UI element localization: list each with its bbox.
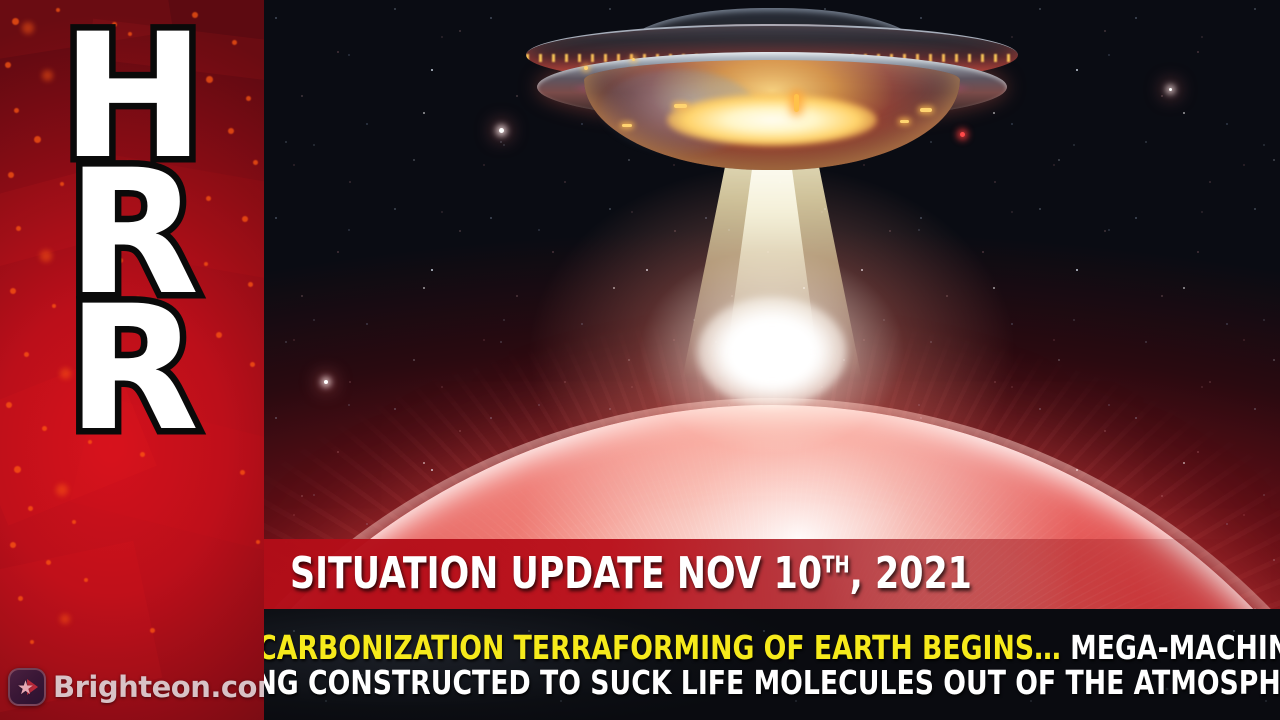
episode-title-ordinal: TH: [822, 552, 850, 578]
hrr-logo-stack: H R R: [0, 30, 264, 436]
bright-star-icon: [1169, 88, 1172, 91]
subtitle-line-1: DECARBONIZATION TERRAFORMING OF EARTH BE…: [264, 631, 1280, 666]
subtitle-line-2: BEING CONSTRUCTED TO SUCK LIFE MOLECULES…: [264, 666, 1280, 701]
brighteon-play-icon: ★: [8, 668, 46, 706]
brand-sidebar: H R R ★ Brighteon.com: [0, 0, 264, 720]
subtitle-strip: DECARBONIZATION TERRAFORMING OF EARTH BE…: [264, 609, 1280, 720]
subtitle-highlight: DECARBONIZATION TERRAFORMING OF EARTH BE…: [264, 628, 1061, 667]
episode-title-suffix: , 2021: [850, 548, 972, 599]
episode-title-prefix: SITUATION UPDATE NOV 10: [290, 548, 822, 599]
hrr-letter-r-2: R: [67, 302, 197, 436]
flying-saucer: [522, 8, 1022, 178]
star-icon: ★: [17, 679, 34, 698]
saucer-running-lights: [522, 8, 1022, 178]
thumbnail-canvas: H R R ★ Brighteon.com SITUATION UPDATE N…: [0, 0, 1280, 720]
title-banner: SITUATION UPDATE NOV 10TH, 2021: [264, 539, 1280, 609]
subtitle-plain: MEGA-MACHINES: [1070, 628, 1280, 667]
brighteon-logo[interactable]: ★ Brighteon.com: [8, 668, 264, 706]
episode-title: SITUATION UPDATE NOV 10TH, 2021: [290, 552, 972, 596]
bright-star-icon: [499, 128, 504, 133]
brighteon-wordmark: Brighteon.com: [53, 670, 264, 704]
